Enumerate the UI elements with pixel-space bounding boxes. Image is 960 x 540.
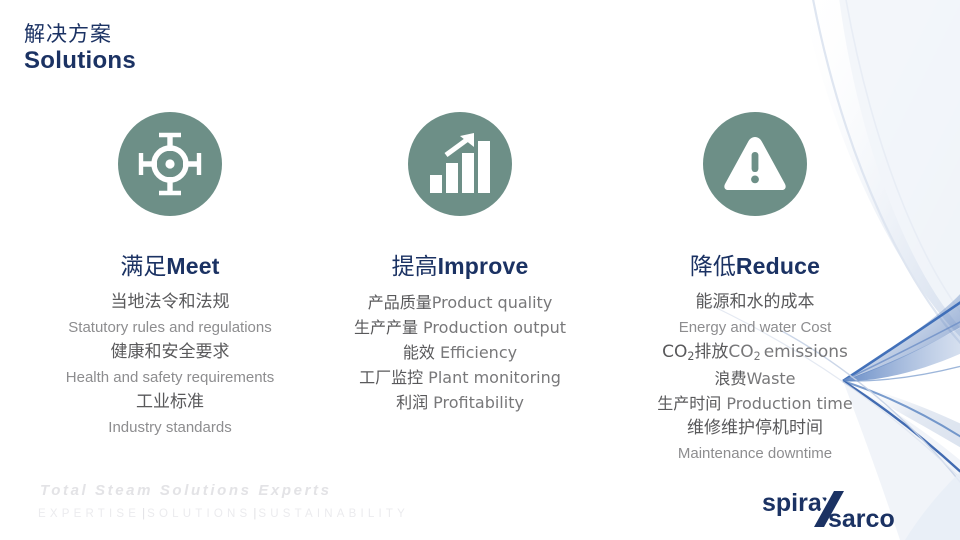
solution-column-meet: 满足Meet 当地法令和法规 Statutory rules and regul…	[20, 112, 320, 440]
list-item: 能效 Efficiency	[310, 340, 610, 365]
bar-chart-growth-icon	[428, 133, 492, 195]
column-heading-improve: 提高Improve	[310, 254, 610, 280]
presentation-slide: 解决方案 Solutions	[0, 0, 960, 540]
list-item-english: Product quality	[432, 293, 553, 312]
column-heading-chinese: 满足	[120, 254, 166, 280]
list-item: 浪费Waste	[605, 366, 905, 391]
co2-label-2: CO2	[728, 342, 760, 362]
list-item-english: Waste	[746, 369, 795, 388]
crosshair-target-icon	[137, 131, 203, 197]
list-item-english: Efficiency	[435, 343, 517, 362]
list-item: 生产产量 Production output	[310, 315, 610, 340]
co2-label-1: CO2	[662, 342, 694, 362]
column-heading-english: Improve	[438, 253, 529, 279]
column-heading-reduce: 降低Reduce	[605, 254, 905, 280]
list-item: 产品质量Product quality	[310, 290, 610, 315]
list-item-chinese: 浪费	[714, 369, 746, 388]
column-heading-chinese: 提高	[392, 254, 438, 280]
page-title: 解决方案 Solutions	[24, 22, 136, 75]
footer-pillars: EXPERTISE|SOLUTIONS|SUSTAINABILITY	[38, 508, 409, 520]
footer-pillar-expertise: EXPERTISE	[38, 508, 140, 520]
column-body-reduce: 能源和水的成本 Energy and water Cost CO2排放CO2em…	[605, 290, 905, 466]
column-heading-english: Meet	[166, 253, 219, 279]
page-title-chinese: 解决方案	[24, 22, 136, 46]
list-item: Statutory rules and regulations	[20, 315, 320, 340]
co2-subscript: 2	[754, 350, 761, 363]
crosshair-target-icon-circle	[118, 112, 222, 216]
list-item-english: Production output	[418, 318, 566, 337]
bar-chart-growth-icon-circle	[408, 112, 512, 216]
list-item-chinese: 排放	[694, 342, 728, 362]
list-item-chinese: 生产产量	[354, 318, 418, 337]
column-body-improve: 产品质量Product quality 生产产量 Production outp…	[310, 290, 610, 415]
list-item: 能源和水的成本	[605, 290, 905, 315]
warning-triangle-icon-circle	[703, 112, 807, 216]
solution-column-reduce: 降低Reduce 能源和水的成本 Energy and water Cost C…	[605, 112, 905, 466]
column-heading-meet: 满足Meet	[20, 254, 320, 280]
co2-subscript: 2	[687, 350, 694, 363]
footer-pillar-sustainability: SUSTAINABILITY	[258, 508, 409, 520]
list-item-english: Production time	[721, 394, 852, 413]
list-item: 维修维护停机时间	[605, 416, 905, 441]
solution-column-improve: 提高Improve 产品质量Product quality 生产产量 Produ…	[310, 112, 610, 415]
list-item-chinese: 利润	[396, 393, 428, 412]
list-item-english: Profitability	[428, 393, 524, 412]
list-item: 工业标准	[20, 390, 320, 415]
list-item-chinese: 能效	[403, 343, 435, 362]
column-heading-english: Reduce	[736, 253, 820, 279]
list-item: Health and safety requirements	[20, 365, 320, 390]
list-item: 利润 Profitability	[310, 390, 610, 415]
list-item: 工厂监控 Plant monitoring	[310, 365, 610, 390]
warning-triangle-icon	[722, 134, 788, 194]
list-item-english: emissions	[761, 342, 848, 362]
list-item: Industry standards	[20, 415, 320, 440]
list-item: 生产时间 Production time	[605, 391, 905, 416]
logo-word-sarco: sarco	[828, 505, 895, 531]
list-item-english: Plant monitoring	[423, 368, 561, 387]
list-item-chinese: 产品质量	[368, 293, 432, 312]
list-item-chinese: 工厂监控	[359, 368, 423, 387]
spirax-sarco-logo: spirax sarco	[760, 487, 944, 531]
list-item: Maintenance downtime	[605, 441, 905, 466]
list-item: 当地法令和法规	[20, 290, 320, 315]
list-item: 健康和安全要求	[20, 340, 320, 365]
footer-tagline: Total Steam Solutions Experts	[40, 482, 332, 499]
footer-pillar-solutions: SOLUTIONS	[147, 508, 251, 520]
list-item-chinese: 生产时间	[657, 394, 721, 413]
list-item-co2: CO2排放CO2emissions	[605, 340, 905, 366]
page-title-english: Solutions	[24, 47, 136, 75]
column-body-meet: 当地法令和法规 Statutory rules and regulations …	[20, 290, 320, 440]
column-heading-chinese: 降低	[690, 254, 736, 280]
list-item: Energy and water Cost	[605, 315, 905, 340]
